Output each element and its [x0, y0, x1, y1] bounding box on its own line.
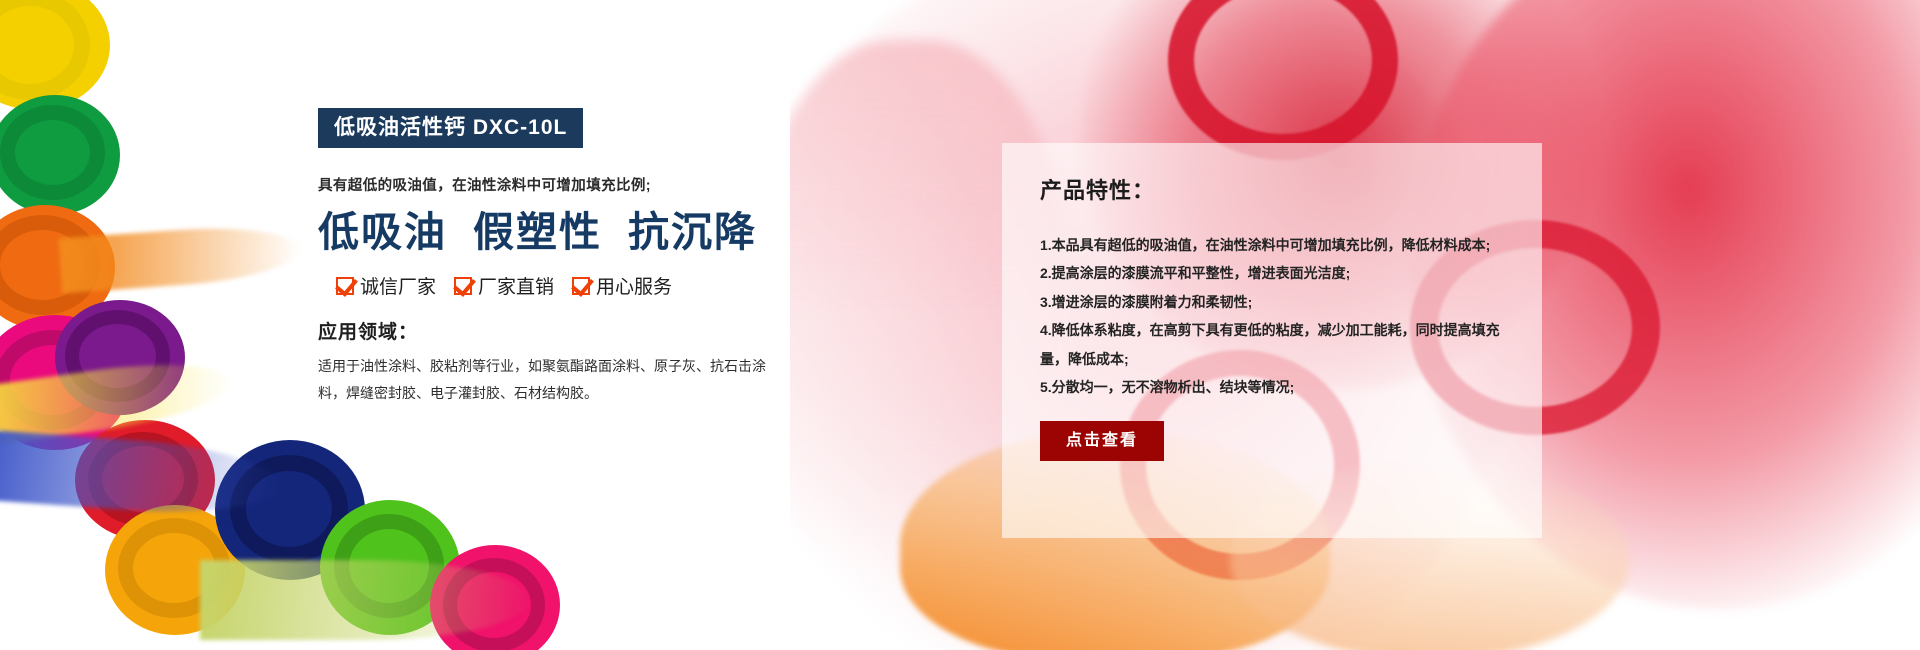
- headline-word-1: 低吸油: [318, 209, 447, 255]
- application-section-title: 应用领域：: [318, 317, 788, 344]
- headline-keywords: 低吸油假塑性抗沉降: [318, 209, 788, 256]
- view-details-button[interactable]: 点击查看: [1040, 421, 1164, 460]
- paint-ring-orange: [0, 215, 100, 315]
- checkbox-checked-icon: [454, 277, 472, 295]
- paint-smear-blue: [0, 430, 282, 521]
- left-content-column: 低吸油活性钙 DXC-10L 具有超低的吸油值，在油性涂料中可增加填充比例; 低…: [318, 108, 788, 408]
- trust-badge-2-label: 厂家直销: [478, 272, 554, 299]
- paint-blob-pink: [430, 545, 560, 650]
- paint-blob-red: [75, 420, 215, 540]
- paint-smear-yellow: [0, 352, 233, 448]
- trust-badge-1-label: 诚信厂家: [360, 272, 436, 299]
- paint-blob-lime: [320, 500, 460, 635]
- checkbox-checked-icon: [336, 277, 354, 295]
- trust-badge-3: 用心服务: [572, 272, 672, 299]
- application-section-body: 适用于油性涂料、胶粘剂等行业，如聚氨酯路面涂料、原子灰、抗石击涂料，焊缝密封胶、…: [318, 353, 788, 408]
- paint-smear-olive: [200, 560, 530, 640]
- paint-blob-purple: [55, 300, 185, 415]
- paint-ring-red: [88, 432, 198, 526]
- paint-smear-orange: [58, 222, 301, 294]
- trust-badge-2: 厂家直销: [454, 272, 554, 299]
- paint-blob-magenta: [0, 315, 130, 450]
- product-title-badge: 低吸油活性钙 DXC-10L: [318, 108, 583, 148]
- feature-item-3: 3.增进涂层的漆膜附着力和柔韧性;: [1040, 288, 1504, 316]
- trust-badge-row: 诚信厂家 厂家直销 用心服务: [336, 272, 788, 299]
- paint-ring-yellow: [0, 0, 90, 100]
- product-features-panel: 产品特性： 1.本品具有超低的吸油值，在油性涂料中可增加填充比例，降低材料成本;…: [1002, 143, 1542, 538]
- trust-badge-3-label: 用心服务: [596, 272, 672, 299]
- paint-blob-navy: [215, 440, 365, 580]
- product-subtitle: 具有超低的吸油值，在油性涂料中可增加填充比例;: [318, 174, 788, 195]
- checkbox-checked-icon: [572, 277, 590, 295]
- paint-ring-amber: [118, 518, 230, 618]
- paint-ring-green: [0, 105, 105, 200]
- paint-ring-navy: [230, 455, 348, 563]
- paint-blob-yellow: [0, 0, 110, 110]
- paint-blob-green: [0, 95, 120, 215]
- paint-ring-lime: [334, 514, 444, 618]
- feature-item-4: 4.降低体系粘度，在高剪下具有更低的粘度，减少加工能耗，同时提高填充量，降低成本…: [1040, 316, 1504, 373]
- headline-word-2: 假塑性: [473, 209, 602, 255]
- feature-item-5: 5.分散均一，无不溶物析出、结块等情况;: [1040, 373, 1504, 401]
- trust-badge-1: 诚信厂家: [336, 272, 436, 299]
- feature-item-2: 2.提高涂层的漆膜流平和平整性，增进表面光洁度;: [1040, 259, 1504, 287]
- paint-blob-amber: [105, 505, 245, 635]
- paint-ring-red-top: [1168, 0, 1398, 160]
- features-list: 1.本品具有超低的吸油值，在油性涂料中可增加填充比例，降低材料成本; 2.提高涂…: [1040, 231, 1504, 401]
- paint-blob-orange: [0, 205, 115, 330]
- product-banner: 低吸油活性钙 DXC-10L 具有超低的吸油值，在油性涂料中可增加填充比例; 低…: [0, 0, 1920, 650]
- headline-word-3: 抗沉降: [628, 209, 757, 255]
- feature-item-1: 1.本品具有超低的吸油值，在油性涂料中可增加填充比例，降低材料成本;: [1040, 231, 1504, 259]
- features-panel-title: 产品特性：: [1040, 173, 1504, 205]
- paint-ring-purple: [65, 310, 170, 402]
- paint-ring-magenta: [0, 330, 110, 430]
- paint-ring-pink: [443, 558, 545, 650]
